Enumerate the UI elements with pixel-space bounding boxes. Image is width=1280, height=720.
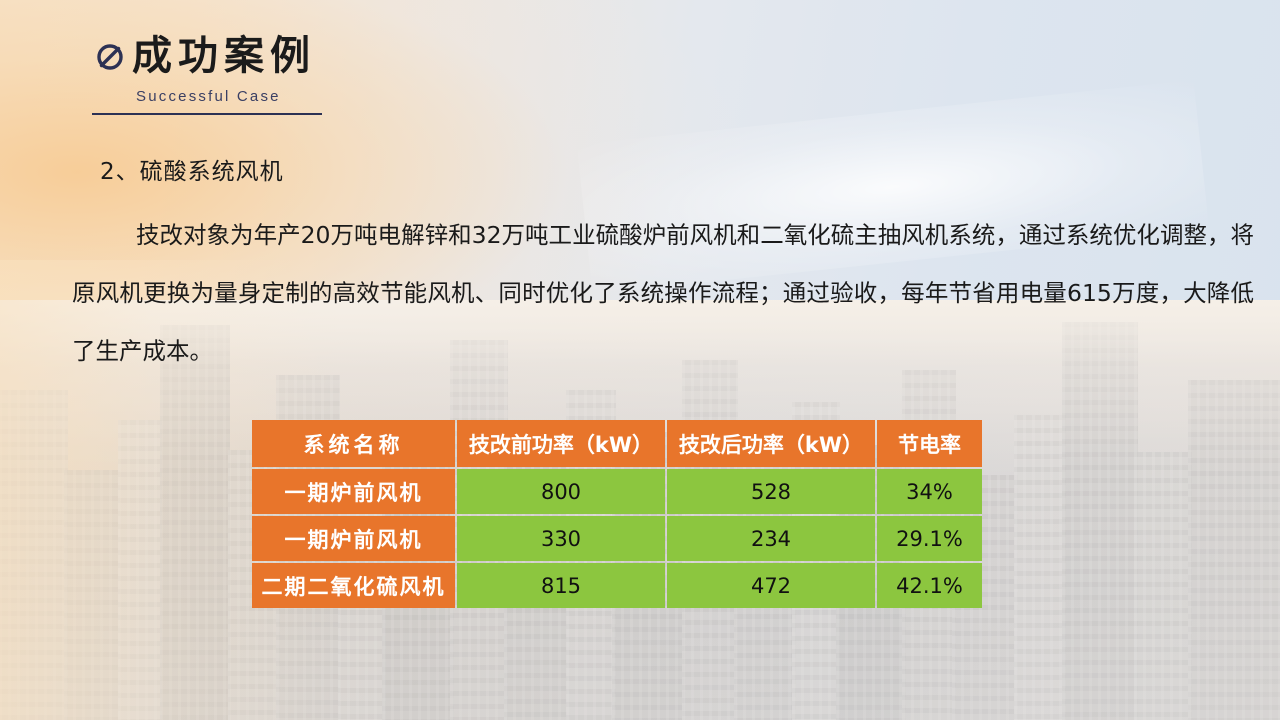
cell-power-before: 800 <box>457 469 665 514</box>
title-block: 成功案例 Successful Case <box>92 36 322 115</box>
slashed-circle-icon <box>92 38 128 74</box>
table-row: 一期炉前风机 800 528 34% <box>252 469 982 514</box>
cell-system-name: 二期二氧化硫风机 <box>252 563 455 608</box>
cell-power-after: 528 <box>667 469 875 514</box>
title-row: 成功案例 <box>92 36 322 76</box>
cell-power-before: 815 <box>457 563 665 608</box>
column-header-system-name: 系统名称 <box>252 420 455 467</box>
body-paragraph: 技改对象为年产20万吨电解锌和32万吨工业硫酸炉前风机和二氧化硫主抽风机系统，通… <box>72 206 1254 380</box>
power-comparison-table: 系统名称 技改前功率（kW） 技改后功率（kW） 节电率 一期炉前风机 800 … <box>250 418 984 610</box>
table-row: 一期炉前风机 330 234 29.1% <box>252 516 982 561</box>
slide: 成功案例 Successful Case 2、硫酸系统风机 技改对象为年产20万… <box>0 0 1280 720</box>
page-subtitle: Successful Case <box>136 88 322 105</box>
title-underline <box>92 113 322 115</box>
column-header-power-after: 技改后功率（kW） <box>667 420 875 467</box>
page-title: 成功案例 <box>132 36 316 76</box>
table-header-row: 系统名称 技改前功率（kW） 技改后功率（kW） 节电率 <box>252 420 982 467</box>
slide-content: 成功案例 Successful Case 2、硫酸系统风机 技改对象为年产20万… <box>0 0 1280 720</box>
cell-system-name: 一期炉前风机 <box>252 516 455 561</box>
cell-power-after: 234 <box>667 516 875 561</box>
column-header-saving-rate: 节电率 <box>877 420 982 467</box>
section-heading: 2、硫酸系统风机 <box>100 152 284 186</box>
cell-saving-rate: 42.1% <box>877 563 982 608</box>
cell-system-name: 一期炉前风机 <box>252 469 455 514</box>
column-header-power-before: 技改前功率（kW） <box>457 420 665 467</box>
cell-saving-rate: 34% <box>877 469 982 514</box>
cell-power-before: 330 <box>457 516 665 561</box>
cell-saving-rate: 29.1% <box>877 516 982 561</box>
cell-power-after: 472 <box>667 563 875 608</box>
table-row: 二期二氧化硫风机 815 472 42.1% <box>252 563 982 608</box>
